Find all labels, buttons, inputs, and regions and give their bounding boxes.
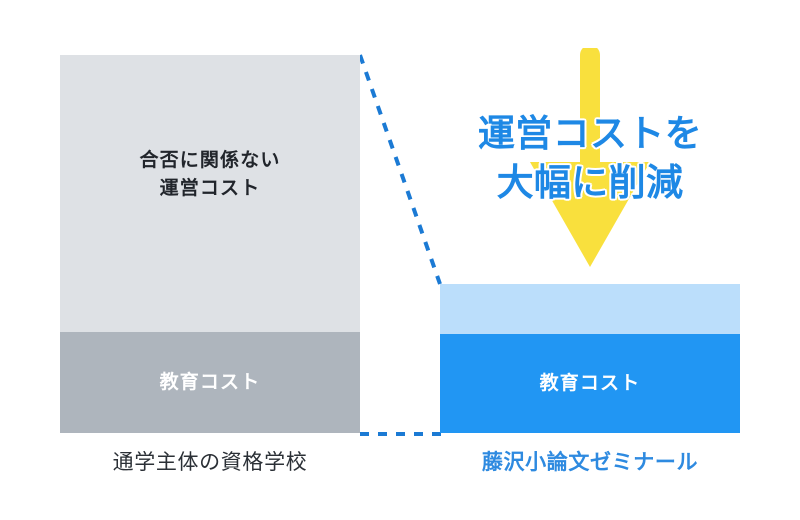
right-bar-education-cost-label: 教育コスト	[540, 370, 641, 398]
right-bar-operating-cost-segment	[440, 284, 740, 334]
left-bar-operating-cost-label: 合否に関係ない 運営コスト	[140, 147, 281, 202]
reduction-annotation-line-1: 運営コストを	[440, 110, 740, 159]
left-bar-education-cost-label: 教育コスト	[160, 369, 261, 397]
reduction-annotation: 運営コストを 大幅に削減	[440, 110, 740, 208]
right-bar-caption: 藤沢小論文ゼミナール	[440, 449, 740, 476]
left-bar-operating-cost-segment: 合否に関係ない 運営コスト	[60, 55, 360, 332]
cost-comparison-figure: 合否に関係ない 運営コスト 教育コスト 教育コスト 運営コストを 大幅に削減 通…	[0, 0, 800, 520]
left-bar-education-cost-segment: 教育コスト	[60, 332, 360, 433]
dashed-connector-top	[360, 55, 440, 284]
left-bar-caption: 通学主体の資格学校	[60, 449, 360, 476]
right-bar-education-cost-segment: 教育コスト	[440, 334, 740, 433]
reduction-annotation-line-2: 大幅に削減	[440, 159, 740, 208]
